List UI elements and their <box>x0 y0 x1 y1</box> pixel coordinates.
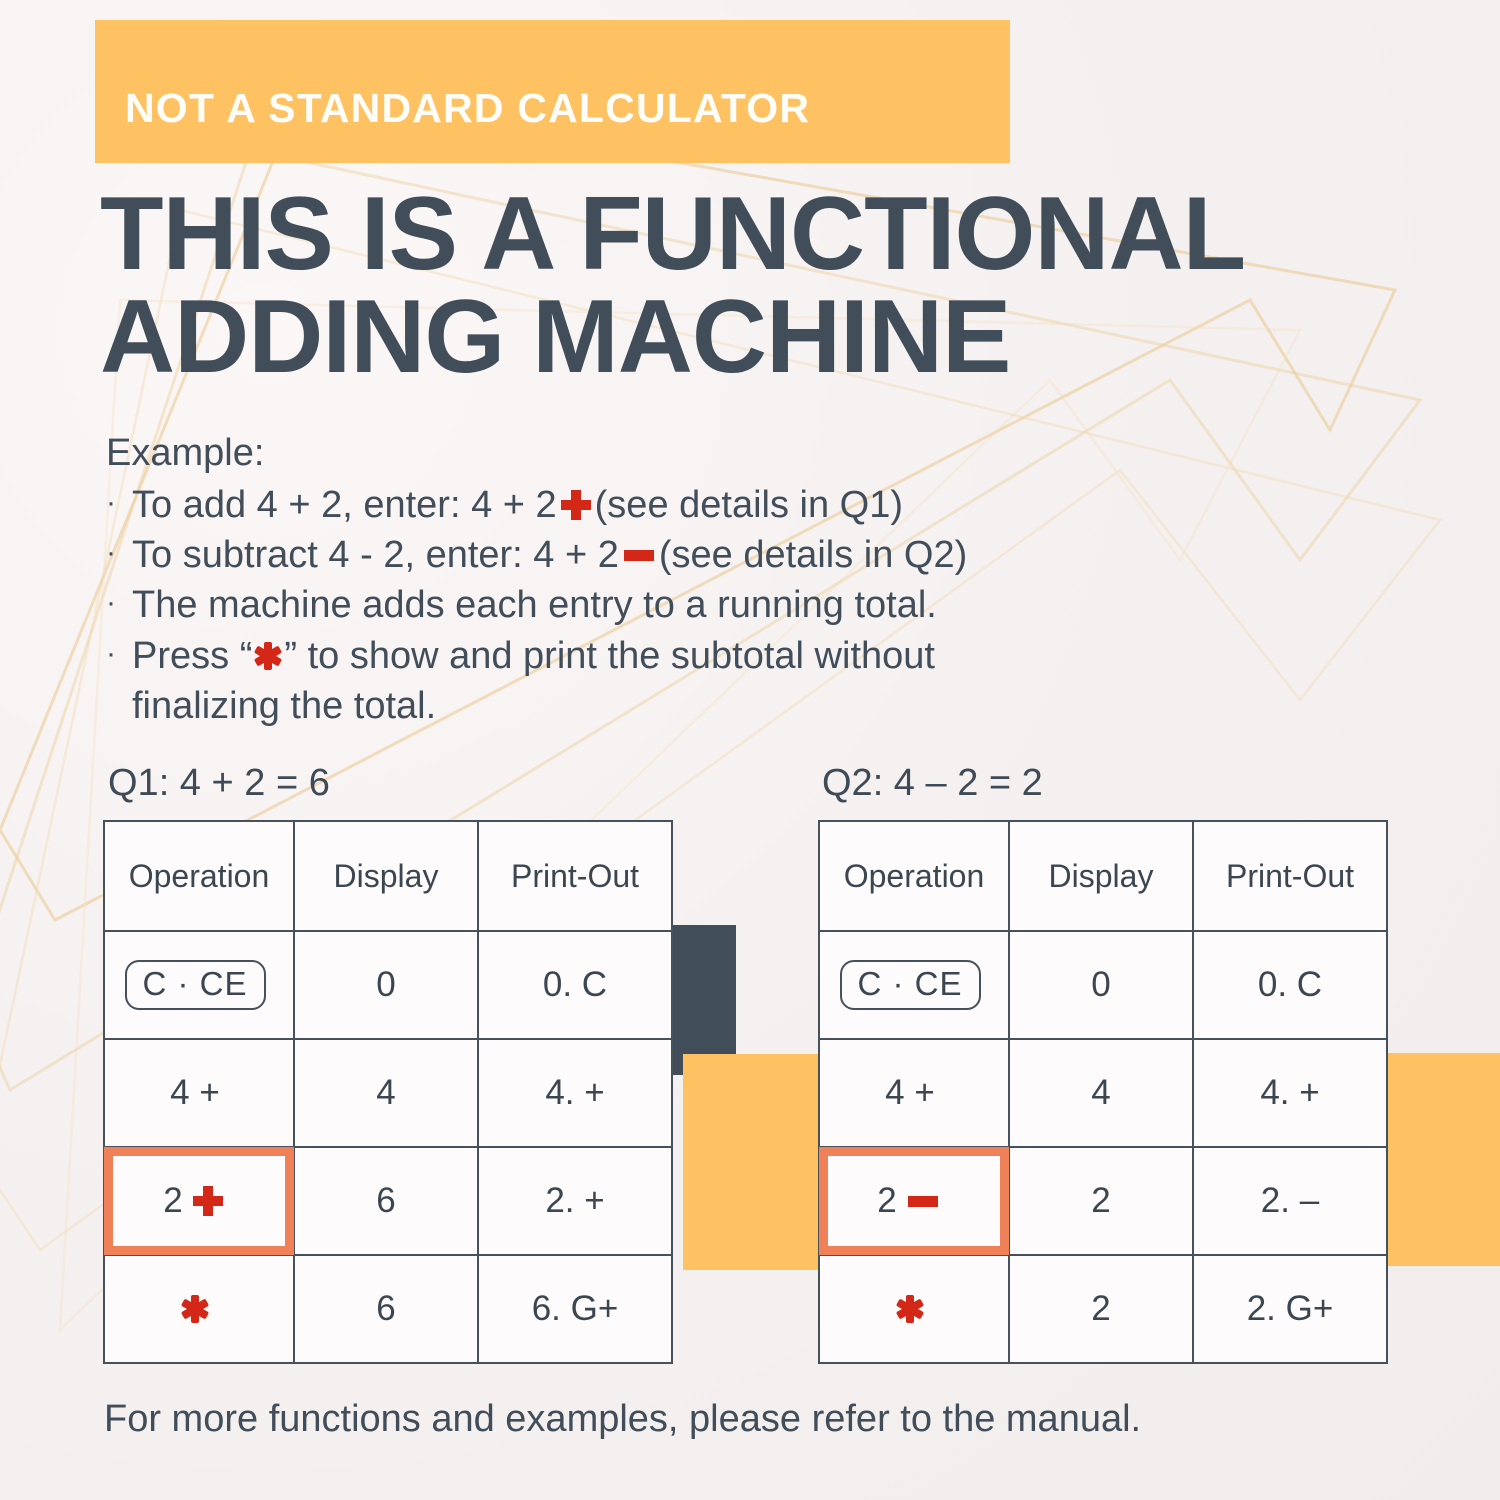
q1-table: OperationDisplayPrint-OutC · CE00. C4 +4… <box>103 820 673 1364</box>
operation-cell-content <box>106 1295 292 1323</box>
footer-note: For more functions and examples, please … <box>104 1398 1141 1441</box>
bullet-content: To subtract 4 - 2, enter: 4 + 2 (see det… <box>132 530 967 580</box>
column-header: Print-Out <box>1193 821 1387 931</box>
example-bullet-list: ·To add 4 + 2, enter: 4 + 2 (see details… <box>106 480 1396 731</box>
column-header: Display <box>294 821 478 931</box>
q1-title: Q1: 4 + 2 = 6 <box>108 762 330 805</box>
bullet-marker: · <box>106 631 132 677</box>
bullet-marker: · <box>106 580 132 626</box>
bullet-marker: · <box>106 480 132 526</box>
table-row: 4 +44. + <box>104 1039 672 1147</box>
operation-value: 4 + <box>885 1073 935 1113</box>
printout-cell: 2. + <box>478 1147 672 1255</box>
clear-ce-button[interactable]: C · CE <box>125 960 266 1010</box>
operation-cell-content: C · CE <box>106 960 292 1010</box>
display-cell: 6 <box>294 1255 478 1363</box>
bullet-text-before: To subtract 4 - 2, enter: 4 + 2 <box>132 530 619 580</box>
bullet-content: To add 4 + 2, enter: 4 + 2 (see details … <box>132 480 903 530</box>
operation-cell-content: 4 + <box>106 1073 292 1113</box>
operation-cell <box>104 1255 294 1363</box>
orange-decorative-rectangle-middle <box>683 1054 820 1270</box>
plus-icon <box>193 1186 223 1216</box>
printout-cell: 0. C <box>478 931 672 1039</box>
operation-cell: 4 + <box>104 1039 294 1147</box>
asterisk-icon <box>254 642 282 670</box>
example-label: Example: <box>106 428 1396 478</box>
operation-value: 4 + <box>170 1073 220 1113</box>
operation-cell-content <box>821 1295 1007 1323</box>
bullet-continuation: finalizing the total. <box>106 681 1396 731</box>
minus-icon <box>908 1196 938 1207</box>
display-cell: 0 <box>294 931 478 1039</box>
bullet-text-after: (see details in Q2) <box>659 530 967 580</box>
asterisk-icon <box>896 1295 924 1323</box>
bullet-text-before: Press “ <box>132 631 252 681</box>
q2-title: Q2: 4 – 2 = 2 <box>822 762 1043 805</box>
table-row: C · CE00. C <box>819 931 1387 1039</box>
banner-title: NOT A STANDARD CALCULATOR <box>95 85 810 132</box>
table-header-row: OperationDisplayPrint-Out <box>819 821 1387 931</box>
example-section: Example: ·To add 4 + 2, enter: 4 + 2 (se… <box>106 428 1396 731</box>
display-cell: 4 <box>1009 1039 1193 1147</box>
column-header: Operation <box>819 821 1009 931</box>
bullet-text-after: (see details in Q1) <box>595 480 903 530</box>
printout-cell: 4. + <box>478 1039 672 1147</box>
bullet-marker: · <box>106 530 132 576</box>
operation-cell-content: C · CE <box>821 960 1007 1010</box>
operation-cell: C · CE <box>104 931 294 1039</box>
table-row: 262. + <box>104 1147 672 1255</box>
printout-cell: 2. G+ <box>1193 1255 1387 1363</box>
example-bullet: ·Press “ ” to show and print the subtota… <box>106 631 1396 681</box>
plus-icon <box>561 490 591 520</box>
operation-value: 2 <box>163 1181 182 1221</box>
table-row: 222. – <box>819 1147 1387 1255</box>
table-header-row: OperationDisplayPrint-Out <box>104 821 672 931</box>
operation-value: 2 <box>877 1181 896 1221</box>
printout-cell: 2. – <box>1193 1147 1387 1255</box>
clear-ce-button[interactable]: C · CE <box>840 960 981 1010</box>
operation-cell: C · CE <box>819 931 1009 1039</box>
headline-line-2: ADDING MACHINE <box>100 286 1430 389</box>
asterisk-icon <box>181 1295 209 1323</box>
bullet-content: Press “ ” to show and print the subtotal… <box>132 631 935 681</box>
display-cell: 0 <box>1009 931 1193 1039</box>
operation-cell: 2 <box>104 1147 294 1255</box>
table-row: 22. G+ <box>819 1255 1387 1363</box>
q2-table: OperationDisplayPrint-OutC · CE00. C4 +4… <box>818 820 1388 1364</box>
operation-cell: 4 + <box>819 1039 1009 1147</box>
example-bullet: ·To add 4 + 2, enter: 4 + 2 (see details… <box>106 480 1396 530</box>
headline-line-1: THIS IS A FUNCTIONAL <box>100 183 1430 286</box>
operation-cell: 2 <box>819 1147 1009 1255</box>
example-bullet: ·The machine adds each entry to a runnin… <box>106 580 1396 630</box>
table-row: C · CE00. C <box>104 931 672 1039</box>
column-header: Print-Out <box>478 821 672 931</box>
bullet-text-before: To add 4 + 2, enter: 4 + 2 <box>132 480 557 530</box>
column-header: Operation <box>104 821 294 931</box>
top-banner: NOT A STANDARD CALCULATOR <box>95 20 1010 163</box>
display-cell: 2 <box>1009 1255 1193 1363</box>
display-cell: 4 <box>294 1039 478 1147</box>
operation-cell-content: 2 <box>821 1181 1007 1221</box>
table-row: 66. G+ <box>104 1255 672 1363</box>
operation-cell-content: 2 <box>106 1181 292 1221</box>
table-row: 4 +44. + <box>819 1039 1387 1147</box>
display-cell: 2 <box>1009 1147 1193 1255</box>
bullet-content: The machine adds each entry to a running… <box>132 580 937 630</box>
example-bullet: ·To subtract 4 - 2, enter: 4 + 2 (see de… <box>106 530 1396 580</box>
printout-cell: 0. C <box>1193 931 1387 1039</box>
display-cell: 6 <box>294 1147 478 1255</box>
bullet-text-before: The machine adds each entry to a running… <box>132 580 937 630</box>
minus-icon <box>624 550 654 561</box>
operation-cell <box>819 1255 1009 1363</box>
bullet-text-after: ” to show and print the subtotal without <box>284 631 935 681</box>
printout-cell: 6. G+ <box>478 1255 672 1363</box>
column-header: Display <box>1009 821 1193 931</box>
orange-decorative-rectangle-right <box>1376 1053 1500 1266</box>
printout-cell: 4. + <box>1193 1039 1387 1147</box>
operation-cell-content: 4 + <box>821 1073 1007 1113</box>
page-title: THIS IS A FUNCTIONAL ADDING MACHINE <box>100 183 1430 389</box>
